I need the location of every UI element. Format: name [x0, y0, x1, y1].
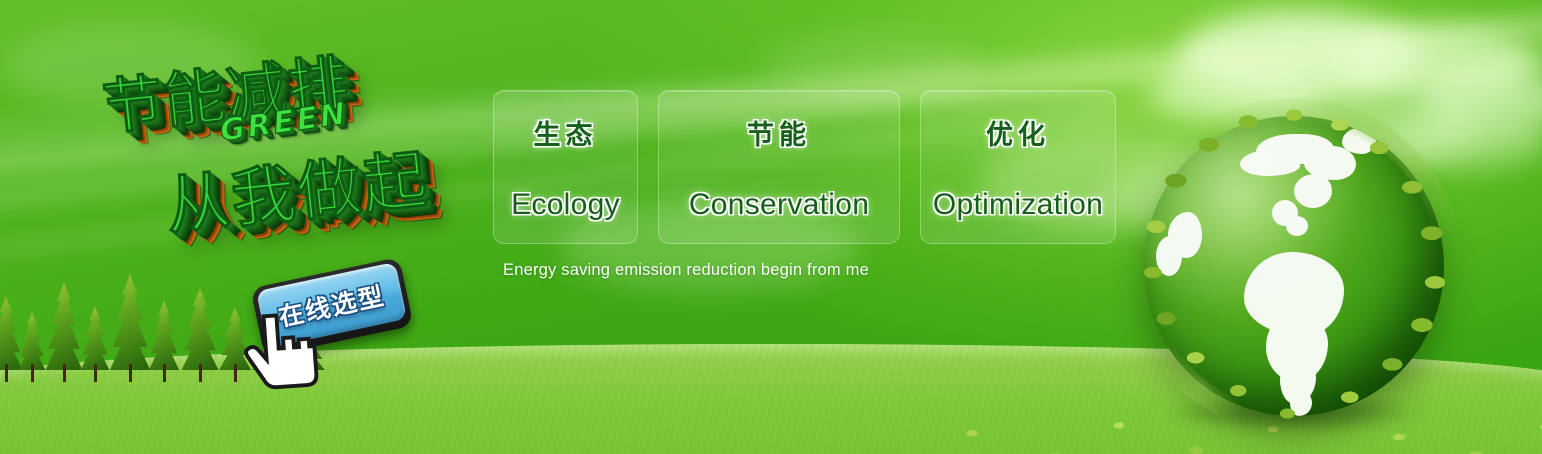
- headline-line-2: 从我做起: [161, 128, 433, 247]
- feature-card-optimization[interactable]: 优化 Optimization: [920, 90, 1116, 244]
- cloud-shape: [1330, 28, 1540, 100]
- globe-sphere: [1144, 116, 1444, 416]
- feature-card-conservation-cn: 节能: [747, 113, 811, 152]
- cloud-shape: [1180, 10, 1420, 100]
- feature-card-conservation-en: Conservation: [689, 188, 869, 222]
- feature-card-ecology-en: Ecology: [511, 188, 620, 222]
- tree-crown: [0, 296, 26, 370]
- tagline: Energy saving emission reduction begin f…: [503, 261, 869, 280]
- headline-line-2-text: 从我做起: [162, 143, 432, 244]
- promo-banner: 节能减排 GREEN 从我做起 在线选型 生态 Ecology 节能 Conse…: [0, 0, 1542, 454]
- feature-card-list: 生态 Ecology 节能 Conservation 优化 Optimizati…: [493, 90, 1116, 244]
- online-selection-button[interactable]: 在线选型: [250, 257, 413, 357]
- tree-crown: [106, 274, 154, 370]
- headline-3d: 节能减排 GREEN 从我做起: [84, 18, 506, 289]
- hand-pointer-icon: [239, 305, 323, 402]
- tree-crown: [42, 282, 86, 370]
- feature-card-conservation[interactable]: 节能 Conservation: [658, 90, 900, 244]
- cloud-shape: [1150, 58, 1320, 124]
- feature-card-optimization-cn: 优化: [986, 113, 1050, 152]
- feature-card-ecology-cn: 生态: [534, 113, 598, 152]
- feature-card-optimization-en: Optimization: [933, 188, 1103, 222]
- leafy-earth-globe-icon: [1144, 116, 1444, 416]
- feature-card-ecology[interactable]: 生态 Ecology: [493, 90, 638, 244]
- tree-crown: [16, 312, 48, 370]
